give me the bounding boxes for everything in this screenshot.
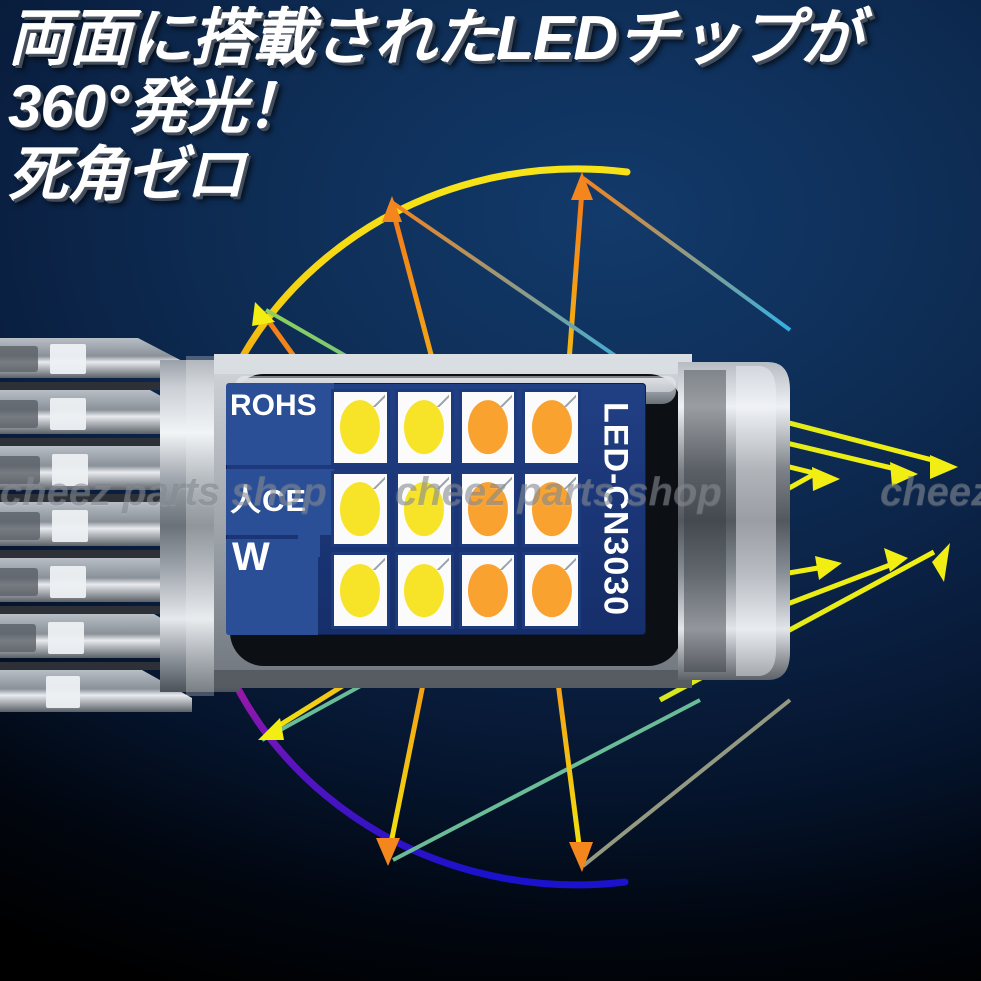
led-polarity-corner-mark — [436, 557, 449, 570]
shop-watermark: cheez parts shop — [395, 470, 722, 515]
led-polarity-corner-mark — [372, 476, 385, 489]
led-chip-emitter — [468, 400, 508, 454]
led-polarity-corner-mark — [563, 394, 576, 407]
led-chip — [459, 552, 518, 629]
led-chip — [331, 471, 390, 548]
headline-block: 両面に搭載されたLEDチップが 360°発光！ 死角ゼロ — [8, 4, 981, 208]
led-polarity-corner-mark — [499, 394, 512, 407]
shop-watermark: cheez parts shop — [0, 470, 327, 515]
led-chip — [331, 552, 390, 629]
product-feature-image: 両面に搭載されたLEDチップが 360°発光！ 死角ゼロ — [0, 0, 981, 981]
led-chip-emitter — [340, 400, 380, 454]
led-chip-emitter — [532, 564, 572, 618]
led-polarity-corner-mark — [563, 557, 576, 570]
headline-line-1: 両面に搭載されたLEDチップが — [8, 4, 981, 73]
led-polarity-corner-mark — [499, 557, 512, 570]
led-chip-emitter — [340, 482, 380, 536]
led-chip — [459, 389, 518, 466]
rohs-marking: ROHS — [230, 389, 317, 423]
led-chip-emitter — [404, 400, 444, 454]
led-polarity-corner-mark — [372, 394, 385, 407]
led-polarity-corner-mark — [372, 557, 385, 570]
led-chip — [395, 389, 454, 466]
led-chip-emitter — [532, 400, 572, 454]
led-chip — [522, 389, 581, 466]
led-polarity-corner-mark — [436, 394, 449, 407]
headline-line-2: 360°発光！ — [8, 73, 981, 140]
led-chip — [331, 389, 390, 466]
led-chip-emitter — [340, 564, 380, 618]
led-chip — [395, 552, 454, 629]
shop-watermark: cheez parts shop — [880, 470, 981, 515]
led-chip — [522, 552, 581, 629]
led-chip-emitter — [468, 564, 508, 618]
led-chip-emitter — [404, 564, 444, 618]
w-marking: W — [232, 535, 270, 580]
headline-line-3: 死角ゼロ — [8, 141, 981, 208]
led-bulb: ROHS 人CE W LED-CN3030 — [0, 330, 858, 750]
